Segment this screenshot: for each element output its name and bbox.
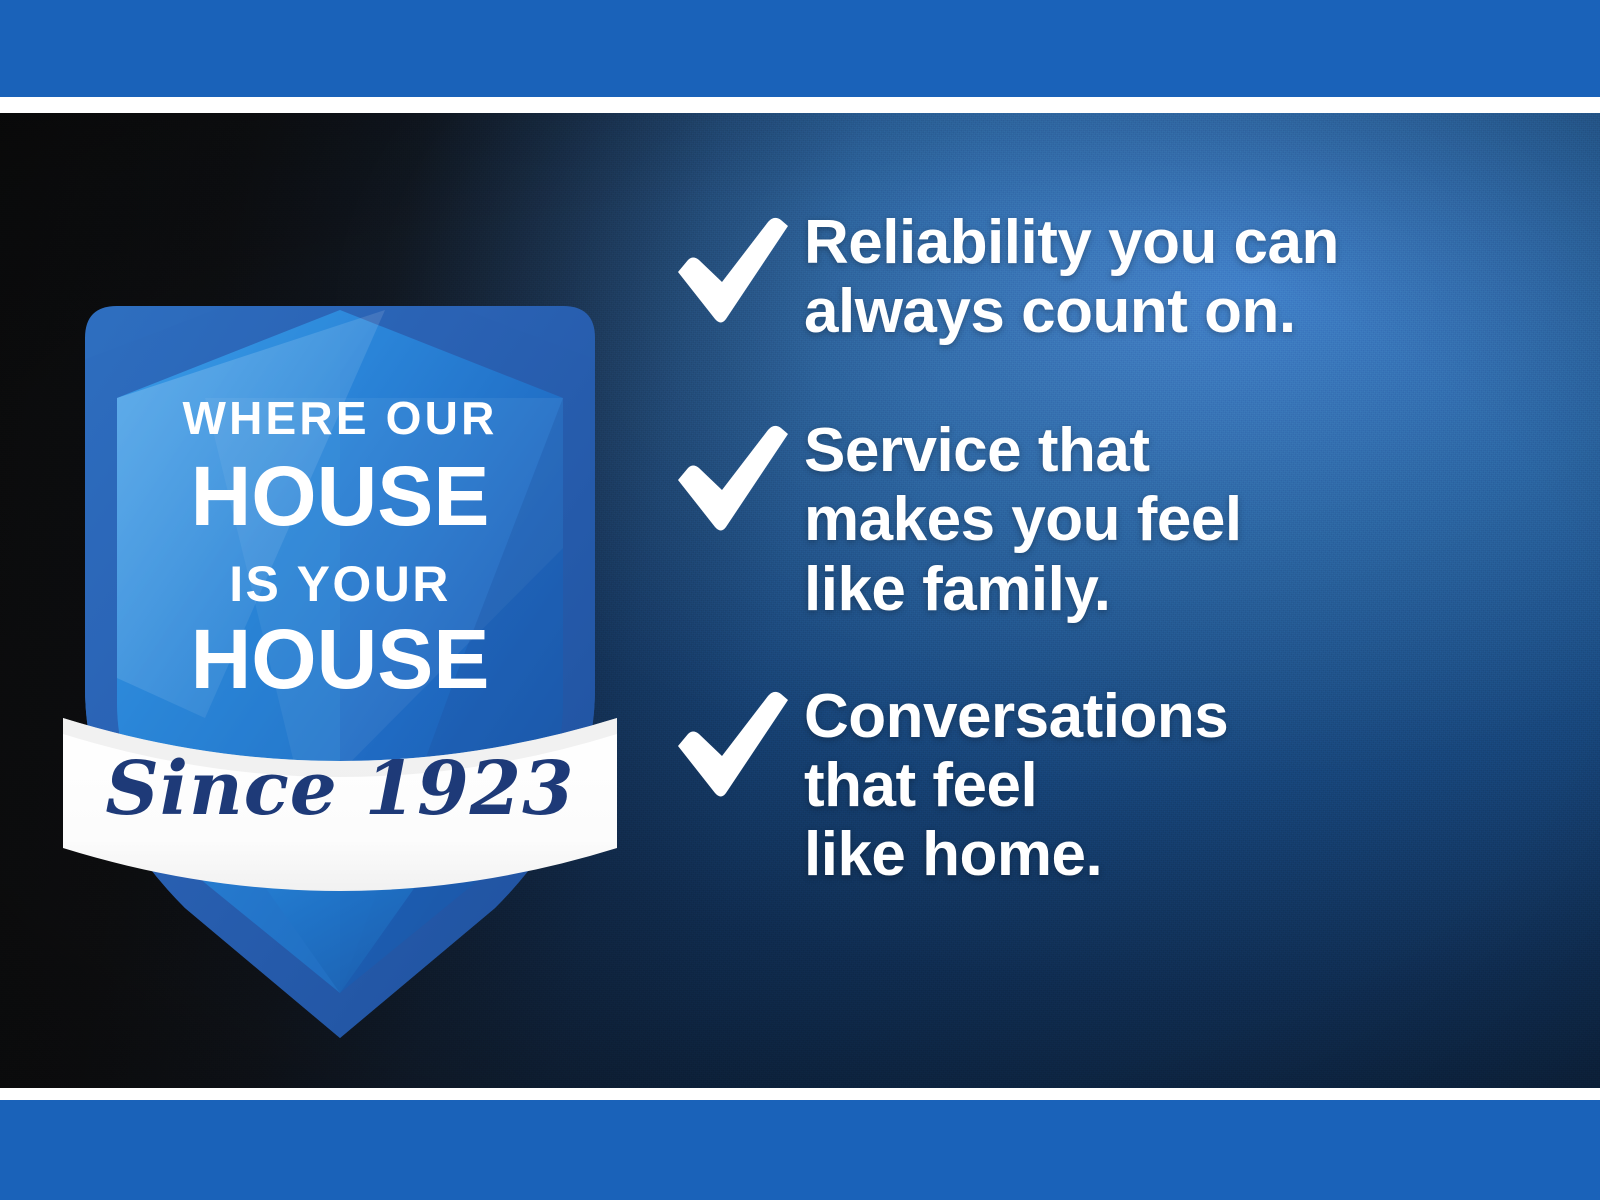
bottom-bar-divider (0, 1088, 1600, 1100)
benefit-text-service: Service that makes you feel like family. (804, 416, 1532, 623)
top-bar-divider (0, 97, 1600, 113)
checkmark-icon (672, 208, 804, 326)
content-stage: WHERE OUR HOUSE IS YOUR HOUSE Since 1923 (0, 113, 1600, 1088)
shield-line-2: HOUSE (191, 449, 490, 543)
shield-line-3: IS YOUR (229, 556, 451, 612)
top-brand-bar (0, 0, 1600, 97)
shield-emblem: WHERE OUR HOUSE IS YOUR HOUSE Since 1923 (55, 248, 625, 1058)
shield-line-1: WHERE OUR (182, 392, 497, 444)
checkmark-icon (672, 416, 804, 534)
benefit-text-conversations: Conversations that feel like home. (804, 682, 1532, 889)
benefit-list: Reliability you can always count on. Ser… (672, 208, 1532, 889)
benefit-item-service: Service that makes you feel like family. (672, 416, 1532, 623)
shield-line-4: HOUSE (191, 612, 490, 706)
bottom-brand-bar (0, 1100, 1600, 1200)
benefit-text-reliability: Reliability you can always count on. (804, 208, 1532, 346)
ribbon-label: Since 1923 (105, 746, 574, 832)
checkmark-icon (672, 682, 804, 800)
benefit-item-reliability: Reliability you can always count on. (672, 208, 1532, 346)
benefit-item-conversations: Conversations that feel like home. (672, 682, 1532, 889)
promo-graphic: WHERE OUR HOUSE IS YOUR HOUSE Since 1923 (0, 0, 1600, 1200)
